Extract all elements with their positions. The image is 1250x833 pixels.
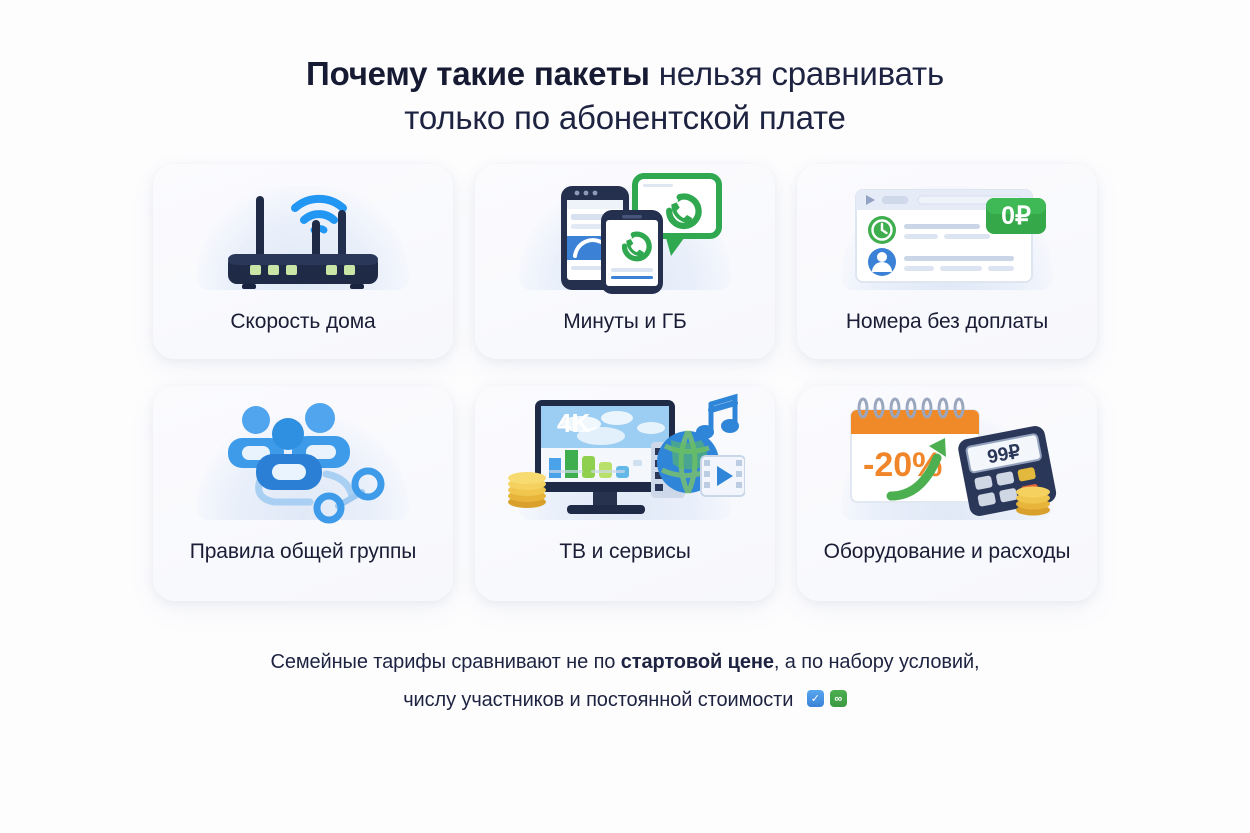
title-line-1: Почему такие пакеты нельзя сравнивать	[0, 52, 1250, 96]
card-art	[153, 164, 453, 296]
card-equipment-costs[interactable]: -20% 99₽	[797, 386, 1097, 601]
phones-call-icon	[525, 170, 725, 296]
tv-globe-media-icon: 4K	[505, 390, 745, 526]
feature-card-grid: Скорость дома	[0, 164, 1250, 601]
card-art: 0₽	[797, 164, 1097, 296]
card-label: Минуты и ГБ	[549, 308, 701, 335]
card-label: Скорость дома	[216, 308, 389, 335]
card-tv-services[interactable]: 4K	[475, 386, 775, 601]
footer-text-b: , а по набору условий,	[774, 651, 980, 673]
footer-badges: ✓ ∞	[807, 690, 847, 707]
card-label: Оборудование и расходы	[810, 538, 1085, 565]
check-badge: ✓	[807, 690, 824, 707]
card-group-rules[interactable]: Правила общей группы	[153, 386, 453, 601]
card-minutes-gb[interactable]: Минуты и ГБ	[475, 164, 775, 359]
card-home-speed[interactable]: Скорость дома	[153, 164, 453, 359]
card-art: -20% 99₽	[797, 386, 1097, 526]
card-label: Номера без доплаты	[832, 308, 1062, 335]
card-label: Правила общей группы	[176, 538, 431, 565]
screen-4k-text: 4K	[557, 408, 590, 438]
title-line-2: только по абонентской плате	[0, 96, 1250, 140]
card-art	[153, 386, 453, 526]
title-rest: нельзя сравнивать	[650, 55, 944, 92]
window-zero-price-icon: 0₽	[842, 178, 1052, 296]
people-network-icon	[198, 394, 408, 526]
footer-emphasis: стартовой цене	[621, 651, 774, 673]
card-art	[475, 164, 775, 296]
card-art: 4K	[475, 386, 775, 526]
footer-text-c: числу участников и постоянной стоимости	[403, 689, 793, 711]
title-emphasis: Почему такие пакеты	[306, 55, 650, 92]
calendar-calculator-icon: -20% 99₽	[837, 392, 1057, 526]
footer-line-1: Семейные тарифы сравнивают не по стартов…	[0, 643, 1250, 681]
zero-price-badge-text: 0₽	[1001, 202, 1031, 230]
infinity-badge: ∞	[830, 690, 847, 707]
footer-text-a: Семейные тарифы сравнивают не по	[271, 651, 621, 673]
card-numbers-no-surcharge[interactable]: 0₽ Номера без доплаты	[797, 164, 1097, 359]
footer-note: Семейные тарифы сравнивают не по стартов…	[0, 643, 1250, 719]
footer-line-2: числу участников и постоянной стоимости …	[0, 681, 1250, 719]
card-label: ТВ и сервисы	[545, 538, 704, 565]
infographic-page: Почему такие пакеты нельзя сравнивать то…	[0, 0, 1250, 833]
router-wifi-icon	[208, 174, 398, 296]
page-title: Почему такие пакеты нельзя сравнивать то…	[0, 0, 1250, 140]
